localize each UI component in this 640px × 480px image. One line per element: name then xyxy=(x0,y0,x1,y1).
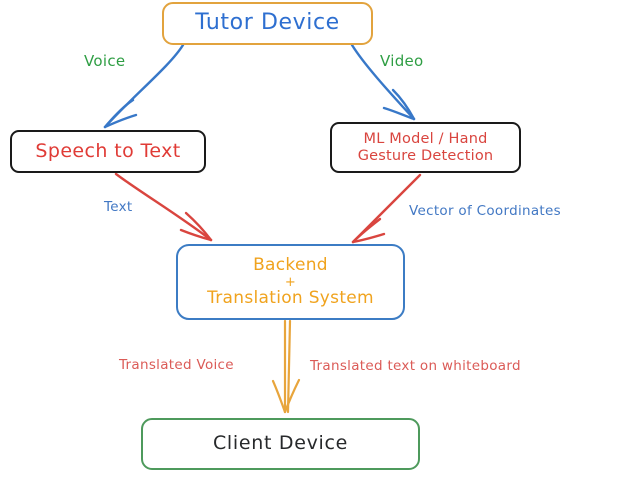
edge-label-voice: Voice xyxy=(84,52,125,70)
node-speech-to-text-label: Speech to Text xyxy=(35,141,180,162)
edge-label-vector-of-coordinates: Vector of Coordinates xyxy=(409,203,561,219)
node-backend-label-line1: Backend xyxy=(253,256,328,275)
edge-label-video: Video xyxy=(380,52,424,70)
node-ml-model[interactable]: ML Model / Hand Gesture Detection xyxy=(330,122,521,173)
edge-translated-text-arrow xyxy=(288,321,290,412)
node-tutor-device[interactable]: Tutor Device xyxy=(162,2,373,45)
node-backend-label-line3: Translation System xyxy=(207,289,374,308)
node-backend-plus-sign: + xyxy=(285,276,296,289)
edge-translated-voice-arrow xyxy=(273,321,299,412)
edge-label-translated-voice: Translated Voice xyxy=(119,357,234,373)
connector-layer xyxy=(0,0,640,480)
node-backend[interactable]: Backend + Translation System xyxy=(176,244,405,320)
node-ml-model-label-line1: ML Model / Hand xyxy=(363,131,487,147)
node-speech-to-text[interactable]: Speech to Text xyxy=(10,130,206,173)
diagram-canvas: Tutor Device Speech to Text ML Model / H… xyxy=(0,0,640,480)
node-client-device[interactable]: Client Device xyxy=(141,418,420,470)
node-tutor-device-label: Tutor Device xyxy=(195,11,340,36)
node-ml-model-label-line2: Gesture Detection xyxy=(358,148,494,164)
edge-label-text: Text xyxy=(104,199,133,215)
node-client-device-label: Client Device xyxy=(213,433,348,454)
edge-label-translated-text-on-whiteboard: Translated text on whiteboard xyxy=(310,358,521,374)
